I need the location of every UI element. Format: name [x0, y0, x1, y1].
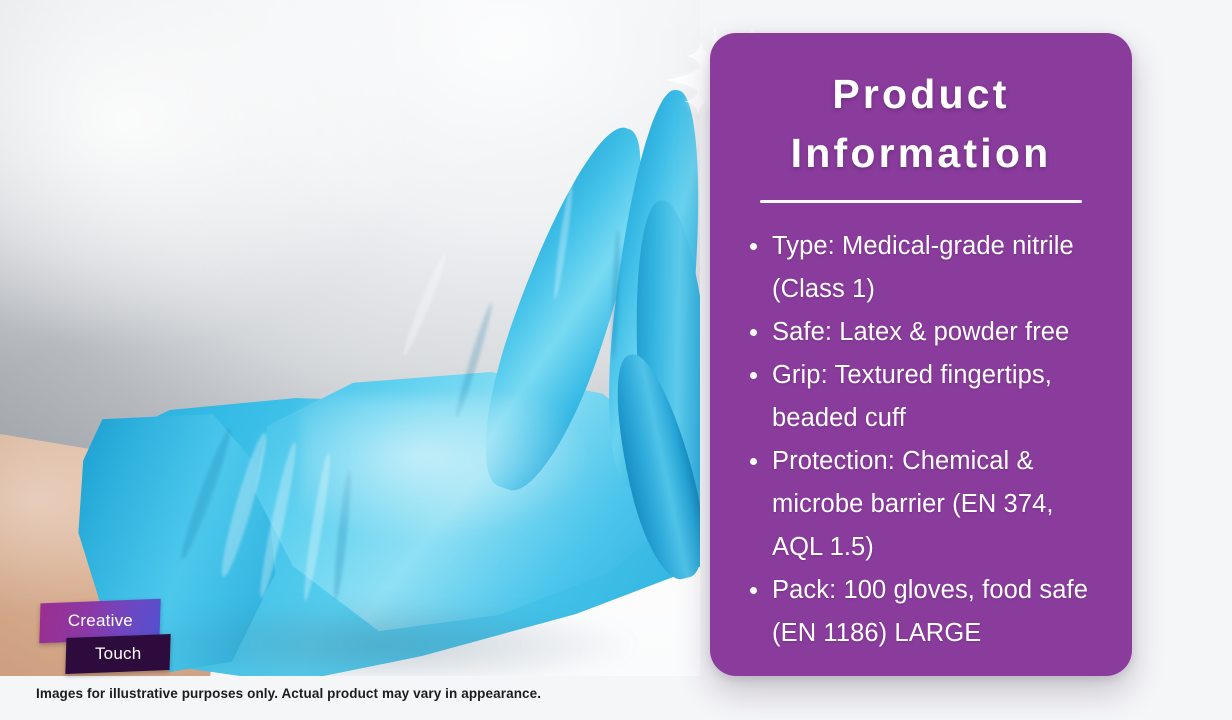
card-title: Product Information	[738, 65, 1104, 184]
photo-contact-shadow	[120, 600, 640, 676]
disclaimer-text: Images for illustrative purposes only. A…	[36, 686, 541, 701]
spec-item: Pack: 100 gloves, food safe (EN 1186) LA…	[750, 569, 1102, 655]
product-information-canvas: Creative Touch Images for illustrative p…	[0, 0, 1232, 720]
title-divider	[760, 200, 1082, 203]
brand-logo-bottom-band: Touch	[65, 634, 170, 674]
brand-logo: Creative Touch	[40, 601, 190, 677]
spec-list: Type: Medical-grade nitrile (Class 1) Sa…	[710, 225, 1132, 655]
brand-logo-line2: Touch	[95, 644, 142, 664]
spec-item: Protection: Chemical & microbe barrier (…	[750, 440, 1102, 569]
product-photo	[0, 0, 700, 676]
product-information-card: Product Information Type: Medical-grade …	[710, 33, 1132, 676]
card-title-line2: Information	[738, 124, 1104, 183]
spec-item: Grip: Textured fingertips, beaded cuff	[750, 354, 1102, 440]
spec-item: Type: Medical-grade nitrile (Class 1)	[750, 225, 1102, 311]
card-title-line1: Product	[832, 71, 1009, 117]
spec-item: Safe: Latex & powder free	[750, 311, 1102, 354]
brand-logo-line1: Creative	[67, 611, 132, 631]
